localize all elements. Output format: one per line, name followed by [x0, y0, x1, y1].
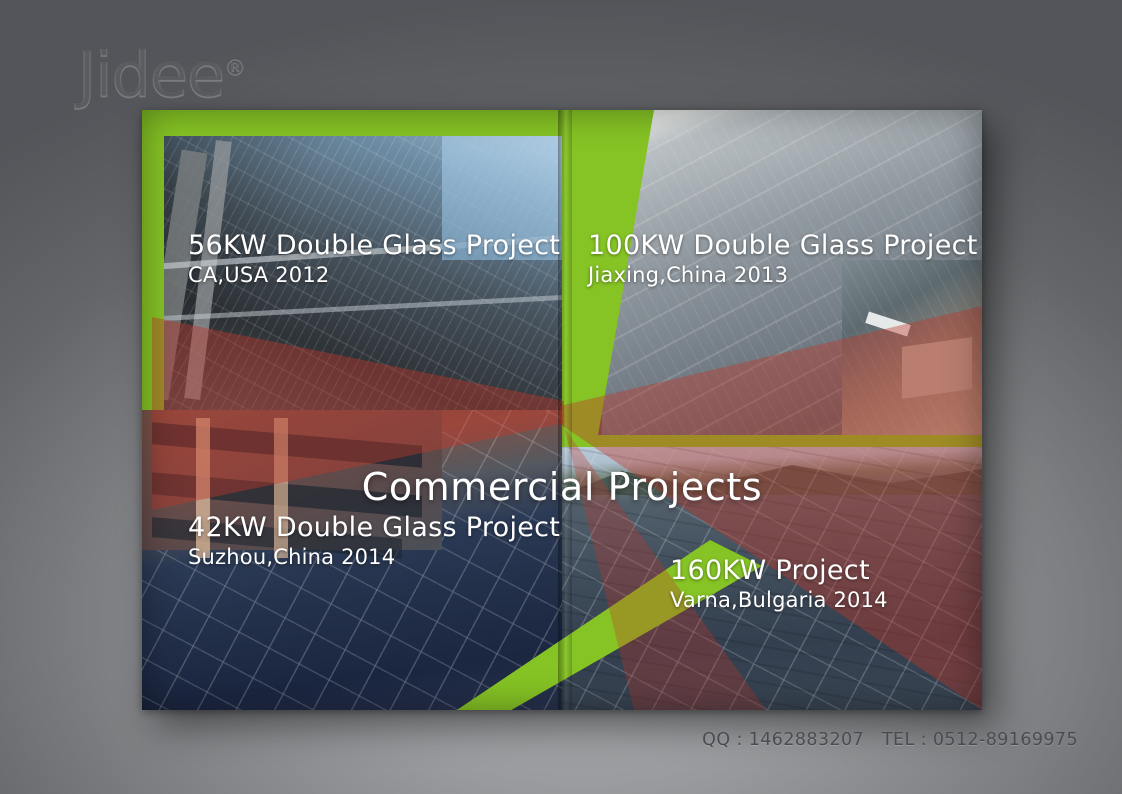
- project-title: 56KW Double Glass Project: [188, 230, 560, 262]
- brand-logo: Jidee®: [78, 36, 246, 109]
- project-title: 160KW Project: [670, 555, 888, 587]
- caption-bottom-right: 160KW Project Varna,Bulgaria 2014: [670, 555, 888, 613]
- project-title: 100KW Double Glass Project: [588, 230, 978, 262]
- center-headline: Commercial Projects: [142, 465, 982, 509]
- contact-info: QQ : 1462883207 TEL : 0512-89169975: [702, 730, 1078, 750]
- caption-top-right: 100KW Double Glass Project Jiaxing,China…: [588, 230, 978, 288]
- brand-logo-text: Jidee: [78, 39, 224, 112]
- accent-bar-top: [142, 110, 562, 136]
- registered-trademark-icon: ®: [224, 56, 246, 81]
- slide-canvas: Jidee®: [0, 0, 1122, 794]
- project-location: CA,USA 2012: [188, 262, 560, 288]
- project-location: Varna,Bulgaria 2014: [670, 587, 888, 613]
- project-location: Jiaxing,China 2013: [588, 262, 978, 288]
- caption-top-left: 56KW Double Glass Project CA,USA 2012: [188, 230, 560, 288]
- brochure-spread: 56KW Double Glass Project CA,USA 2012 10…: [142, 110, 982, 710]
- book-spine-gutter: [558, 110, 572, 710]
- project-title: 42KW Double Glass Project: [188, 512, 560, 544]
- caption-bottom-left: 42KW Double Glass Project Suzhou,China 2…: [188, 512, 560, 570]
- project-location: Suzhou,China 2014: [188, 544, 560, 570]
